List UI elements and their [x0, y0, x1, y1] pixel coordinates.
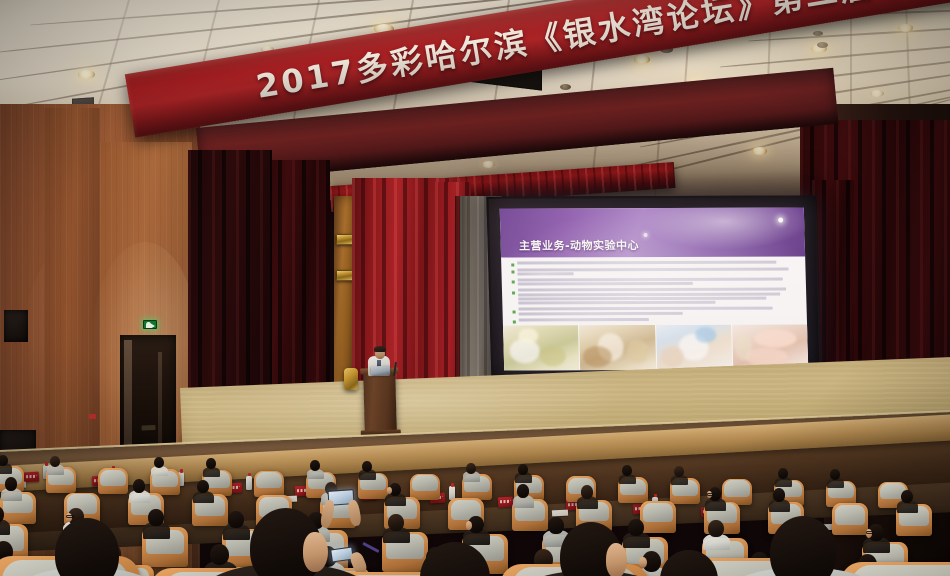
audience-member-head	[830, 469, 840, 480]
pen	[362, 542, 379, 553]
slide-text-line	[518, 297, 766, 301]
seat-headrest	[851, 565, 950, 576]
bullet-marker-icon	[511, 271, 514, 274]
auditorium-seat[interactable]	[722, 479, 752, 505]
audience-member-head	[708, 520, 723, 537]
slide-header-band: 主营业务-动物实验中心	[500, 208, 805, 258]
slide-text-line	[518, 282, 693, 286]
foreground-audience-head	[55, 518, 119, 576]
audience-member-head	[0, 455, 8, 466]
slide-photo	[655, 324, 732, 370]
slide-photo-strip	[503, 324, 808, 370]
auditorium-photo: 2017多彩哈尔滨《银水湾论坛》第二届年	[0, 0, 950, 576]
audience-member-head	[5, 477, 17, 491]
seat-headrest	[100, 470, 125, 486]
auditorium-seat[interactable]	[98, 468, 128, 494]
seat-headrest	[256, 472, 281, 488]
slide-title: 主营业务-动物实验中心	[519, 237, 640, 253]
slide-bullet	[508, 277, 800, 287]
slide-bullet-list	[501, 256, 807, 325]
audience-member-head	[466, 463, 476, 474]
foreground-audience-head	[770, 516, 836, 576]
slide-bullet-text	[519, 317, 801, 322]
slide-bullet-text	[518, 288, 801, 307]
slide-bullet-text	[517, 260, 799, 265]
slide-text-line	[518, 277, 783, 281]
slide-text-line	[517, 272, 573, 275]
slide-photo	[503, 325, 580, 371]
audience-member-head	[228, 511, 243, 528]
auditorium-seat[interactable]	[832, 503, 868, 535]
audience-seating	[0, 400, 950, 576]
foreground-audience-face	[606, 543, 627, 576]
exit-arrow-icon	[150, 323, 155, 329]
slide-bullet	[508, 307, 800, 317]
exit-sign-icon	[143, 320, 157, 329]
audience-member-head	[362, 461, 372, 472]
bullet-marker-icon	[512, 281, 515, 284]
eyeglasses-icon	[66, 515, 74, 518]
audience-member-head	[388, 514, 403, 531]
slide-bullet-text	[518, 277, 800, 287]
slide-bullet	[507, 267, 799, 277]
slide-bullet	[508, 288, 801, 307]
audience-member-face	[387, 487, 392, 494]
audience-member-head	[628, 519, 643, 536]
seat-headrest	[835, 505, 865, 525]
audience-member-head	[548, 517, 563, 534]
seat-headrest	[724, 480, 749, 496]
acoustic-panel	[4, 310, 28, 342]
audience-member-head	[148, 509, 163, 526]
slide-dot-decoration	[778, 217, 783, 222]
audience-member-head	[773, 488, 785, 502]
slide-bullet	[507, 260, 799, 267]
projection-screen: 主营业务-动物实验中心	[486, 195, 821, 382]
bullet-marker-icon	[511, 264, 514, 267]
audience-member-head	[133, 479, 145, 493]
audience-member-head	[517, 484, 529, 498]
seat-headrest	[643, 503, 673, 523]
slide-bullet	[509, 317, 801, 324]
slide-text-line	[519, 318, 649, 321]
audience-member-head	[206, 458, 216, 469]
audience-member-head	[310, 460, 320, 471]
auditorium-seat[interactable]	[640, 501, 676, 533]
seat-headrest	[412, 475, 437, 491]
slide-text-line	[518, 292, 780, 296]
bullet-marker-icon	[513, 320, 516, 323]
eyeglasses-icon	[866, 531, 874, 534]
slide-text-line	[518, 301, 716, 305]
auditorium-seat[interactable]	[254, 471, 284, 497]
audience-member-head	[210, 544, 229, 565]
presentation-slide: 主营业务-动物实验中心	[500, 208, 809, 371]
slide-text-line	[519, 312, 683, 316]
slide-bullet-text	[517, 267, 799, 277]
audience-member-shoulders	[0, 519, 10, 535]
foreground-audience-face	[303, 532, 327, 572]
presenter-hair	[374, 346, 386, 352]
audience-member-head	[50, 456, 60, 467]
slide-text-line	[517, 260, 777, 264]
slide-text-line	[517, 267, 788, 271]
audience-member-head	[518, 464, 528, 475]
bullet-marker-icon	[512, 291, 515, 294]
presentation-laptop	[371, 366, 390, 376]
slide-photo	[579, 325, 656, 371]
bullet-marker-icon	[513, 310, 516, 313]
audience-member-head	[581, 485, 593, 499]
slide-text-line	[518, 307, 772, 311]
slide-bullet-text	[518, 307, 800, 317]
audience-member-head	[778, 468, 788, 479]
slide-text-line	[518, 288, 786, 292]
eyeglasses-icon	[707, 493, 715, 496]
auditorium-seat[interactable]	[410, 474, 440, 500]
gold-vase-ornament	[344, 368, 358, 390]
